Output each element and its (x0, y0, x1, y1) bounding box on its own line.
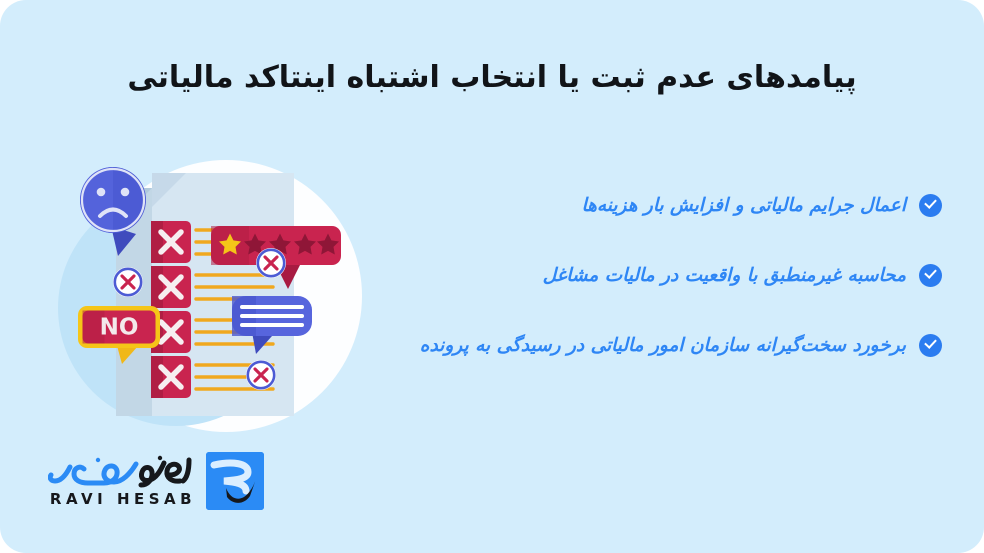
consequences-list: اعمال جرایم مالیاتی و افزایش بار هزینه‌ه… (322, 170, 942, 380)
x-mark-circle (256, 248, 286, 278)
x-mark-square (151, 221, 191, 263)
list-item-label: اعمال جرایم مالیاتی و افزایش بار هزینه‌ه… (581, 195, 906, 216)
list-item: محاسبه غیرمنطبق با واقعیت در مالیات مشاغ… (322, 240, 942, 310)
x-mark-circle (246, 360, 276, 390)
logo-wordmark-persian (48, 454, 198, 490)
ravi-hesab-logo-mark (206, 452, 264, 510)
logo-wordmark-latin: RAVI HESAB (48, 490, 198, 508)
check-circle-icon (919, 334, 942, 357)
list-item: برخورد سخت‌گیرانه سازمان امور مالیاتی در… (322, 310, 942, 380)
no-badge-label: NO (100, 315, 139, 341)
page-title: پیامدهای عدم ثبت یا انتخاب اشتباه اینتاک… (0, 58, 984, 99)
infographic-canvas: پیامدهای عدم ثبت یا انتخاب اشتباه اینتاک… (0, 0, 984, 553)
list-item-label: محاسبه غیرمنطبق با واقعیت در مالیات مشاغ… (543, 265, 906, 286)
check-circle-icon (919, 194, 942, 217)
list-item: اعمال جرایم مالیاتی و افزایش بار هزینه‌ه… (322, 170, 942, 240)
check-circle-icon (919, 264, 942, 287)
x-mark-square (151, 266, 191, 308)
brand-logo: RAVI HESAB (44, 452, 264, 522)
list-item-label: برخورد سخت‌گیرانه سازمان امور مالیاتی در… (420, 335, 906, 356)
sad-face-eye (97, 188, 106, 197)
sad-face-eye (121, 188, 130, 197)
x-mark-square (151, 356, 191, 398)
x-mark-circle (113, 267, 143, 297)
